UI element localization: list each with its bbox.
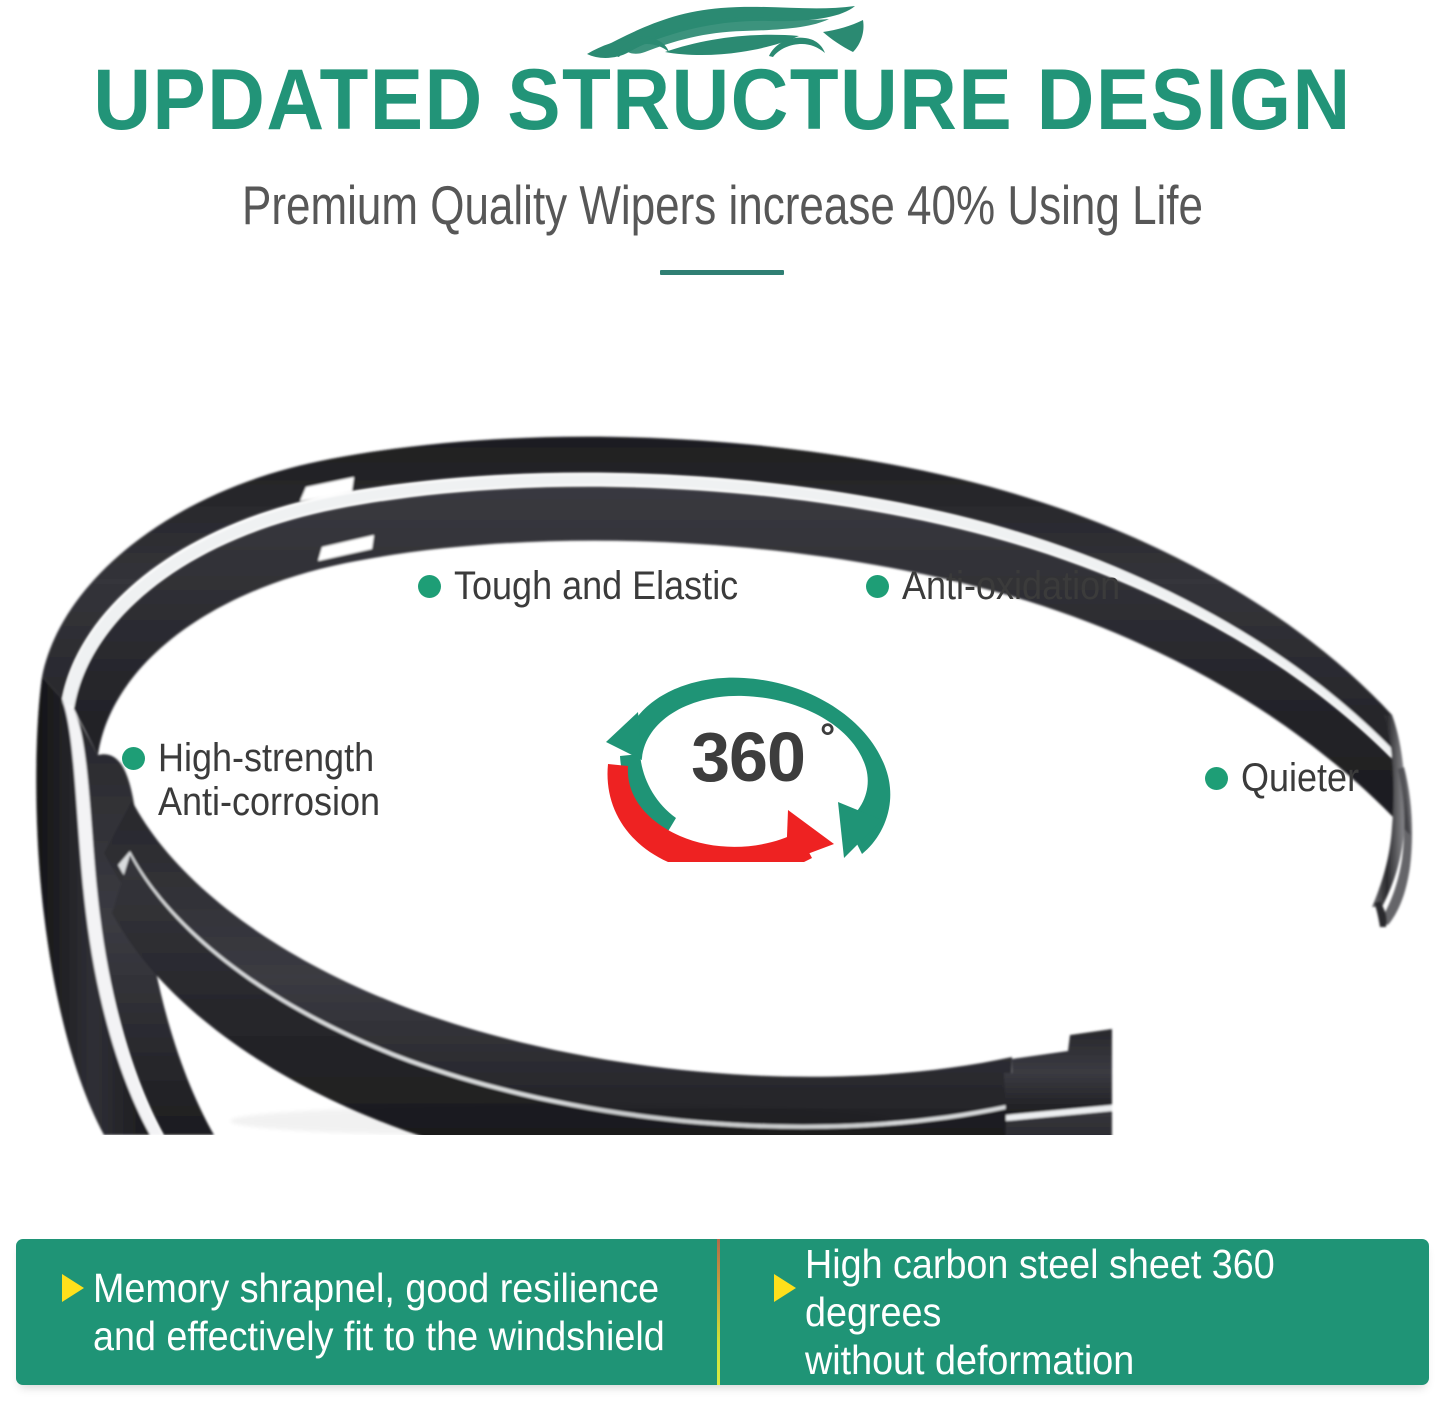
- bullet-dot-icon: [122, 747, 145, 770]
- feature-label: Tough and Elastic: [454, 564, 738, 608]
- banner-text: Memory shrapnel, good resilience and eff…: [93, 1264, 665, 1360]
- triangle-arrow-icon: [774, 1274, 796, 1302]
- triangle-arrow-icon: [62, 1274, 84, 1302]
- bullet-dot-icon: [1205, 767, 1228, 790]
- banner-pane-memory-shrapnel: Memory shrapnel, good resilience and eff…: [16, 1239, 717, 1385]
- header: UPDATED STRUCTURE DESIGN Premium Quality…: [0, 0, 1445, 300]
- feature-callout-high-strength-anti-corrosion: High-strength Anti-corrosion: [122, 736, 405, 824]
- bullet-dot-icon: [418, 575, 441, 598]
- bottom-feature-banner: Memory shrapnel, good resilience and eff…: [16, 1239, 1429, 1385]
- page-subtitle: Premium Quality Wipers increase 40% Usin…: [145, 175, 1301, 235]
- title-underline-rule: [660, 270, 784, 275]
- feature-callout-anti-oxidation: Anti-oxidation: [866, 564, 1144, 608]
- banner-text: High carbon steel sheet 360 degrees with…: [805, 1240, 1379, 1384]
- feature-label: Quieter: [1241, 756, 1359, 800]
- feature-label: High-strength Anti-corrosion: [158, 736, 380, 824]
- feature-callout-quieter: Quieter: [1205, 756, 1372, 800]
- bullet-dot-icon: [866, 575, 889, 598]
- feature-callout-tough-and-elastic: Tough and Elastic: [418, 564, 770, 608]
- banner-pane-high-carbon-steel: High carbon steel sheet 360 degrees with…: [720, 1239, 1429, 1385]
- badge-360-degree: 360 °: [576, 672, 906, 862]
- page-title: UPDATED STRUCTURE DESIGN: [51, 57, 1395, 143]
- badge-degree-symbol: °: [820, 719, 835, 757]
- badge-number: 360: [658, 722, 838, 792]
- feature-label: Anti-oxidation: [902, 564, 1120, 608]
